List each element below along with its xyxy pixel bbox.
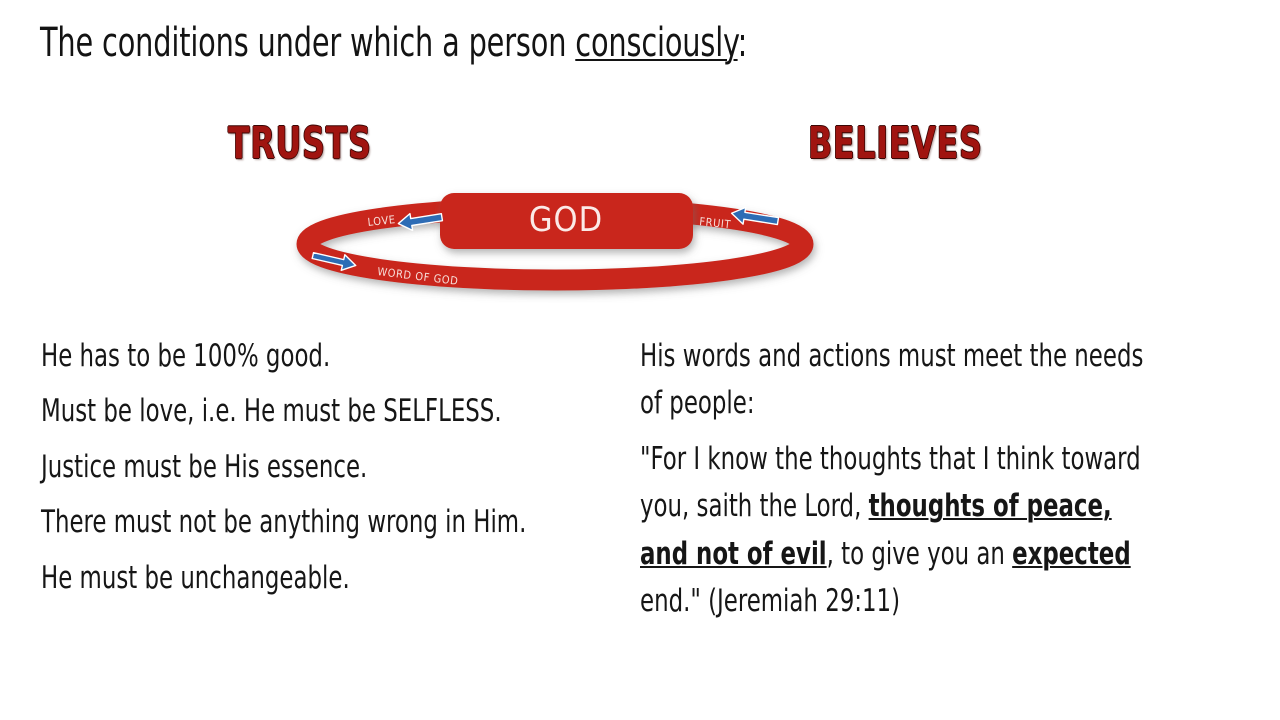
left-column-line: Must be love, i.e. He must be SELFLESS.: [41, 388, 641, 435]
left-column-line: There must not be anything wrong in Him.: [41, 499, 641, 546]
page-title: The conditions under which a person cons…: [40, 20, 984, 66]
title-emphasis-consciously: consciously: [575, 20, 737, 66]
quote-part-3: end." (Jeremiah 29:11): [640, 583, 900, 619]
heading-believes: BELIEVES: [808, 118, 983, 169]
right-column-scripture-quote: "For I know the thoughts that I think to…: [640, 436, 1160, 626]
quote-part-2: , to give you an: [827, 536, 1013, 572]
god-cycle-diagram: GOD LOVE FRUIT WORD OF GOD: [290, 178, 850, 303]
svg-text:FRUIT: FRUIT: [699, 215, 732, 231]
heading-trusts: TRUSTS: [228, 118, 372, 169]
left-column-trusts-conditions: He has to be 100% good. Must be love, i.…: [41, 333, 641, 602]
god-box: GOD: [440, 193, 693, 249]
title-lead-text: The conditions under which a person: [40, 20, 575, 66]
god-box-label: GOD: [529, 200, 603, 240]
left-column-line: He must be unchangeable.: [41, 555, 641, 602]
quote-emphasis-expected: expected: [1012, 536, 1131, 572]
left-column-line: Justice must be His essence.: [41, 444, 641, 491]
title-trail-text: :: [738, 20, 748, 66]
right-column-intro: His words and actions must meet the need…: [640, 333, 1160, 428]
left-column-line: He has to be 100% good.: [41, 333, 641, 380]
slide-canvas: The conditions under which a person cons…: [0, 0, 1280, 720]
right-column-believes-conditions: His words and actions must meet the need…: [640, 333, 1160, 626]
